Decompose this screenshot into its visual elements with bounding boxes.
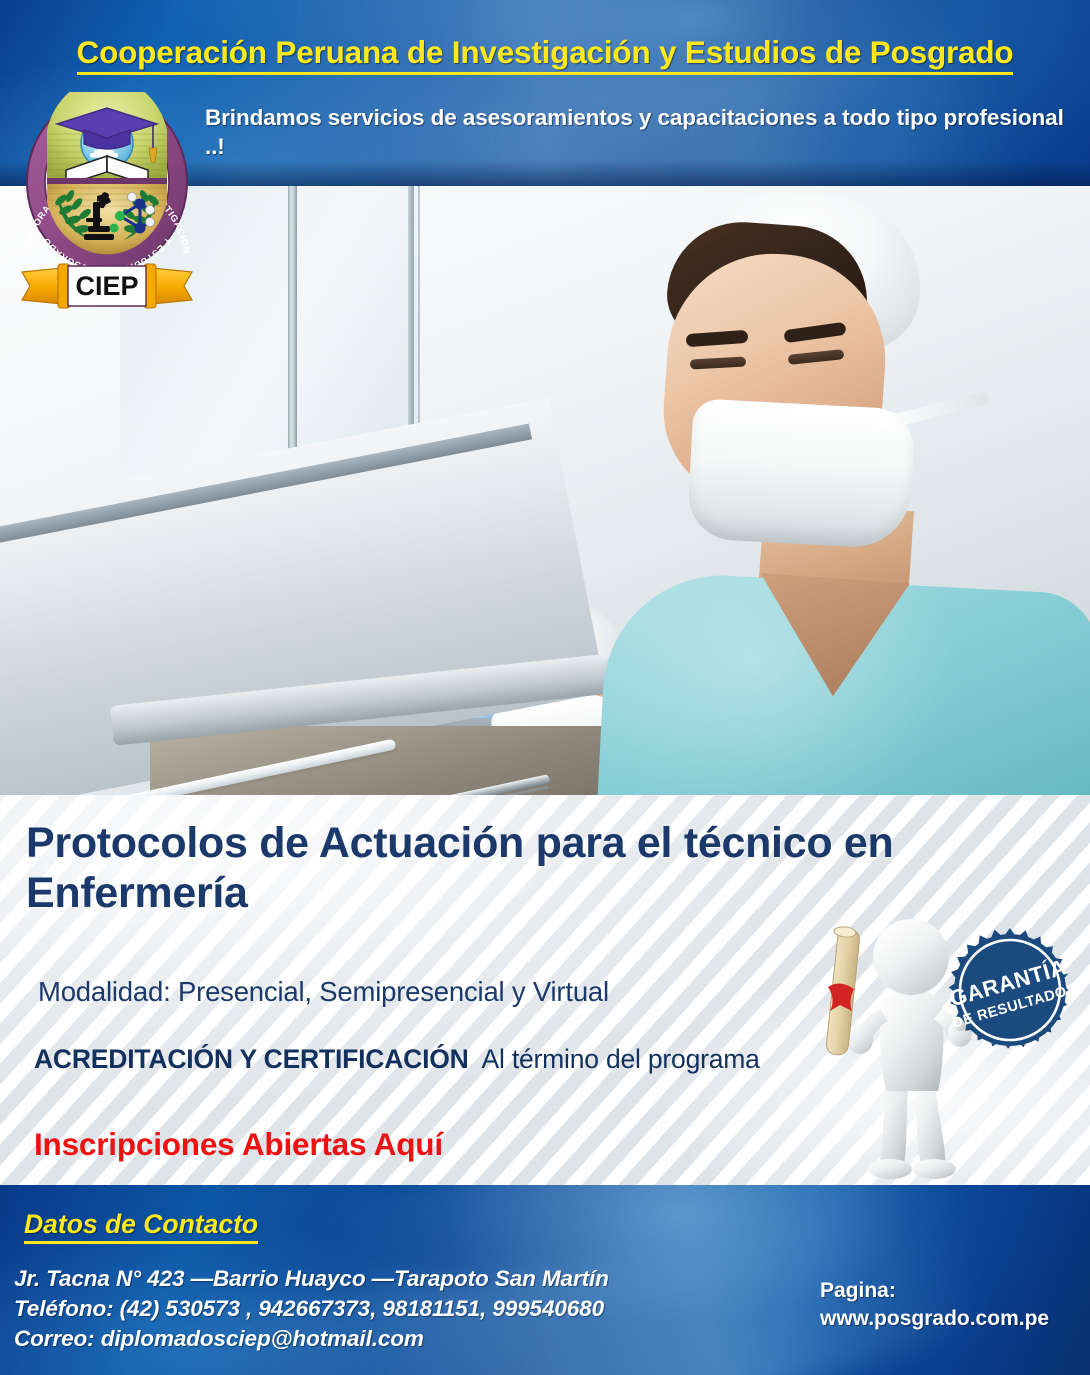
ciep-logo: CORPORACION PERUANA DE INVESTIGACION Y E…	[14, 92, 200, 318]
contact-address: Jr. Tacna N° 423 —Barrio Huayco —Tarapot…	[14, 1264, 609, 1294]
ciep-logo-svg: CORPORACION PERUANA DE INVESTIGACION Y E…	[14, 92, 200, 318]
website-url[interactable]: www.posgrado.com.pe	[820, 1305, 1049, 1333]
organization-title: Cooperación Peruana de Investigación y E…	[0, 34, 1090, 71]
header-tagline: Brindamos servicios de asesoramientos y …	[205, 104, 1067, 162]
acreditacion-detail: Al término del programa	[482, 1044, 760, 1074]
mannequin-foot	[912, 1159, 956, 1179]
website-block: Pagina: www.posgrado.com.pe	[820, 1277, 1049, 1333]
guarantee-seal: GARANTÍA DE RESULTADOS	[936, 916, 1084, 1064]
contact-heading: Datos de Contacto	[24, 1209, 258, 1240]
flyer-page: Cooperación Peruana de Investigación y E…	[0, 0, 1090, 1375]
logo-banner-ribbon: CIEP	[22, 264, 192, 308]
mannequin-torso	[880, 989, 944, 1091]
acreditacion-line: ACREDITACIÓN Y CERTIFICACIÓN Al término …	[34, 1042, 804, 1077]
inscripciones-cta[interactable]: Inscripciones Abiertas Aquí	[34, 1126, 443, 1163]
logo-acronym: CIEP	[75, 271, 138, 301]
website-label: Pagina:	[820, 1277, 1049, 1305]
mannequin-left-hand	[847, 1024, 873, 1054]
mannequin-foot	[868, 1159, 912, 1179]
contact-heading-text: Datos de Contacto	[24, 1209, 258, 1244]
course-title: Protocolos de Actuación para el técnico …	[26, 818, 966, 919]
modalidad-line: Modalidad: Presencial, Semipresencial y …	[38, 976, 609, 1008]
contact-footer: Datos de Contacto Jr. Tacna N° 423 —Barr…	[0, 1185, 1090, 1375]
organization-title-text: Cooperación Peruana de Investigación y E…	[77, 34, 1014, 75]
guarantee-seal-svg: GARANTÍA DE RESULTADOS	[936, 916, 1084, 1064]
contact-phone: Teléfono: (42) 530573 , 942667373, 98181…	[14, 1294, 609, 1324]
contact-email[interactable]: Correo: diplomadosciep@hotmail.com	[14, 1324, 609, 1354]
contact-details: Jr. Tacna N° 423 —Barrio Huayco —Tarapot…	[14, 1264, 609, 1354]
acreditacion-label: ACREDITACIÓN Y CERTIFICACIÓN	[34, 1044, 469, 1074]
